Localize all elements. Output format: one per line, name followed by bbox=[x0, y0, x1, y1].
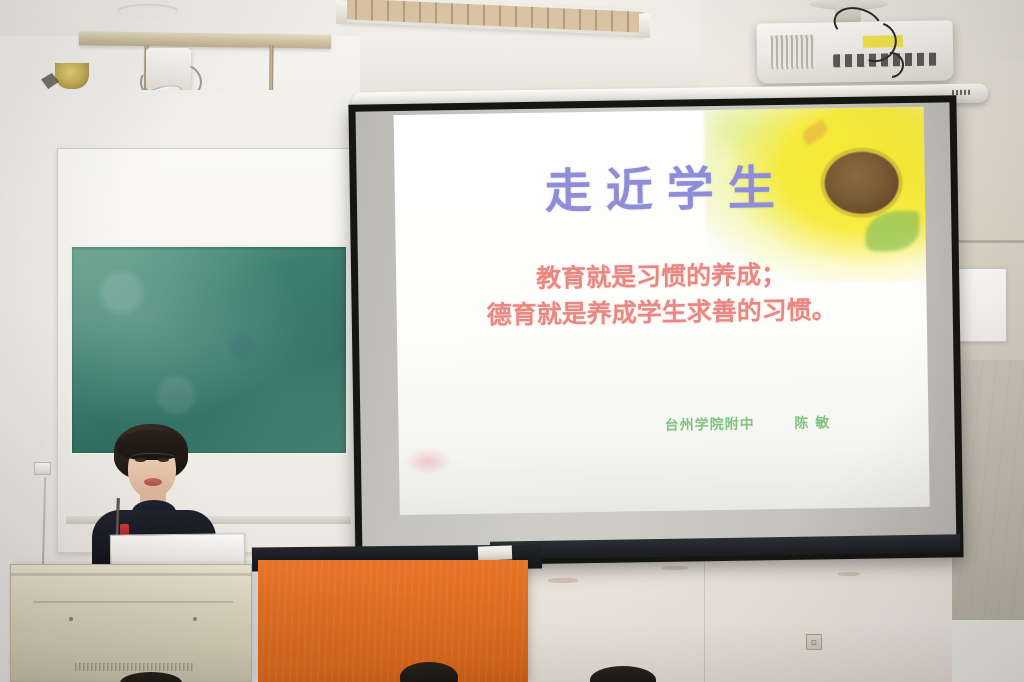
signature-organization: 台州学院附中 bbox=[665, 416, 755, 433]
podium-seam bbox=[33, 601, 233, 603]
classroom-photo: ⊡ 走近学生 教育就是习惯的养成； 德育就是养成学生求善的习惯。 bbox=[0, 0, 1024, 682]
podium-screw bbox=[69, 617, 73, 621]
wall-scuff bbox=[548, 578, 578, 583]
slide-signature: 台州学院附中 陈 敏 bbox=[398, 411, 928, 439]
screen-surface: 走近学生 教育就是习惯的养成； 德育就是养成学生求善的习惯。 台州学院附中 陈 … bbox=[356, 102, 957, 559]
ceiling-vent-icon bbox=[118, 4, 178, 17]
podium-lip bbox=[11, 573, 251, 576]
wall-bracket-icon bbox=[55, 63, 89, 89]
projected-slide: 走近学生 教育就是习惯的养成； 德育就是养成学生求善的习惯。 台州学院附中 陈 … bbox=[394, 107, 930, 515]
presenter-mouth bbox=[144, 478, 162, 486]
pink-flower-accent bbox=[405, 448, 451, 475]
slide-title: 走近学生 bbox=[394, 147, 925, 224]
wall-power-outlet[interactable]: ⊡ bbox=[806, 634, 822, 650]
slide-body-line-2: 德育就是养成学生求善的习惯。 bbox=[396, 290, 926, 334]
podium-laptop bbox=[110, 533, 245, 566]
lecture-podium bbox=[10, 564, 252, 682]
wall-scuff bbox=[662, 566, 688, 570]
light-cap-right bbox=[639, 14, 650, 38]
presenter-eye-left bbox=[135, 458, 146, 462]
presenter-eye-right bbox=[158, 458, 169, 462]
slide-body: 教育就是习惯的养成； 德育就是养成学生求善的习惯。 bbox=[396, 255, 927, 334]
orange-wooden-panel bbox=[258, 560, 528, 682]
podium-screw bbox=[193, 617, 197, 621]
projector-vent-icon bbox=[771, 35, 816, 70]
podium-vent-icon bbox=[75, 663, 195, 671]
wall-light-switch[interactable] bbox=[34, 462, 51, 475]
white-object-on-desk bbox=[478, 545, 512, 560]
light-cap-left bbox=[336, 0, 347, 24]
projection-screen: 走近学生 教育就是习惯的养成； 德育就是养成学生求善的习惯。 台州学院附中 陈 … bbox=[348, 95, 963, 566]
wall-scuff bbox=[838, 572, 860, 576]
signature-name: 陈 敏 bbox=[794, 415, 830, 432]
